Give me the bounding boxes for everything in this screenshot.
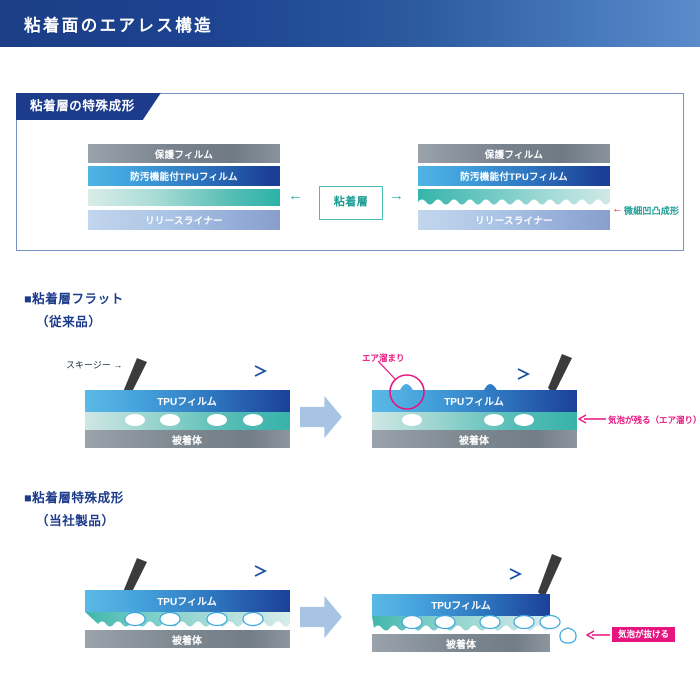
texture-note-label: 微細凹凸成形 (624, 204, 679, 217)
layer-label: 防汚機能付TPUフィルム (88, 169, 280, 183)
svg-text:TPUフィルム: TPUフィルム (157, 396, 217, 408)
layer-release-liner: リリースライナー (88, 210, 280, 230)
bubble-remains-leader-icon (578, 414, 606, 424)
arrow-left-icon: ← (288, 188, 303, 203)
transition-arrow-icon-1 (300, 394, 342, 440)
transition-arrow-icon-2 (300, 594, 342, 640)
layer-release-liner: リリースライナー (418, 210, 610, 230)
layer-adhesive-flat (88, 189, 280, 206)
bubble-escape-leader-icon (586, 630, 610, 640)
page-header: 粘着面のエアレス構造 (0, 0, 700, 47)
bubble-remains-label: 気泡が残る（エア溜り） (608, 414, 700, 426)
arrow-right-icon: → (389, 188, 404, 203)
layer-tpu-film: 防汚機能付TPUフィルム (418, 166, 610, 186)
right-stack: 保護フィルム 防汚機能付TPUフィルム リリースライナー (418, 144, 610, 230)
svg-text:被着体: 被着体 (172, 434, 203, 447)
air-pocket-label: エア溜まり (362, 352, 405, 364)
layer-label: リリースライナー (418, 213, 610, 227)
textured-right-diagram: TPUフィルム 被着体 (372, 552, 602, 652)
flat-left-diagram: TPUフィルム 被着体 (85, 356, 290, 448)
svg-text:TPUフィルム: TPUフィルム (157, 596, 217, 608)
layer-label: リリースライナー (88, 213, 280, 227)
svg-text:TPUフィルム: TPUフィルム (444, 396, 504, 408)
left-stack: 保護フィルム 防汚機能付TPUフィルム リリースライナー (88, 144, 280, 230)
svg-text:TPUフィルム: TPUフィルム (431, 600, 491, 612)
adhesive-layer-callout: 粘着層 (319, 186, 383, 220)
wavy-adhesive-shape (418, 189, 610, 209)
flat-right-diagram: TPUフィルム 被着体 (372, 352, 577, 448)
svg-text:被着体: 被着体 (446, 638, 477, 651)
texture-arrow-icon: ← (612, 204, 623, 215)
bubble-escape-label: 気泡が抜ける (612, 627, 675, 642)
layer-label: 保護フィルム (418, 147, 610, 161)
svg-text:被着体: 被着体 (459, 434, 490, 447)
section-flat-subheading: （従来品） (36, 311, 102, 330)
svg-text:被着体: 被着体 (172, 634, 203, 647)
page-title: 粘着面のエアレス構造 (24, 12, 213, 36)
section-textured-heading: ■粘着層特殊成形 (24, 487, 124, 506)
section-flat-heading: ■粘着層フラット (24, 288, 124, 307)
panel-tab-label: 粘着層の特殊成形 (16, 93, 161, 120)
layer-tpu-film: 防汚機能付TPUフィルム (88, 166, 280, 186)
layer-label: 保護フィルム (88, 147, 280, 161)
layer-adhesive-textured (418, 189, 610, 209)
textured-left-diagram: TPUフィルム 被着体 (85, 556, 290, 648)
section-textured-subheading: （当社製品） (36, 510, 115, 529)
layer-protective-film: 保護フィルム (418, 144, 610, 163)
layer-label: 防汚機能付TPUフィルム (418, 169, 610, 183)
layer-protective-film: 保護フィルム (88, 144, 280, 163)
